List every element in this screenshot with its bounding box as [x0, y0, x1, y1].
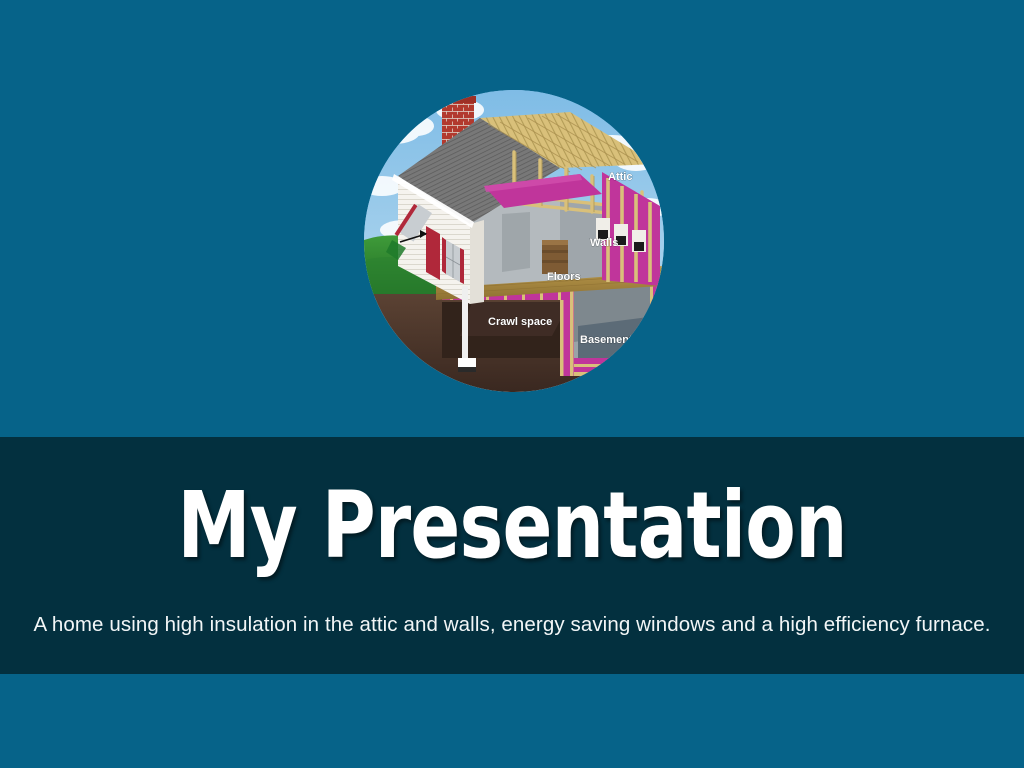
- hero-image-circle-mask: Attic Walls Floors Crawl space Basement: [364, 90, 664, 392]
- label-attic: Attic: [608, 171, 632, 183]
- presentation-slide: Attic Walls Floors Crawl space Basement …: [0, 0, 1024, 768]
- label-walls: Walls: [590, 237, 618, 249]
- interior-stair-block: [542, 240, 568, 274]
- label-floors: Floors: [547, 271, 581, 283]
- label-crawl-space: Crawl space: [488, 316, 552, 328]
- basement-cavity: [574, 280, 656, 376]
- label-basement: Basement: [580, 334, 633, 346]
- hero-image-container: Attic Walls Floors Crawl space Basement: [364, 90, 664, 392]
- slide-subtitle: A home using high insulation in the atti…: [0, 612, 1024, 638]
- page-title: My Presentation: [102, 480, 921, 572]
- house-insulation-cutaway-illustration: Attic Walls Floors Crawl space Basement: [364, 90, 664, 392]
